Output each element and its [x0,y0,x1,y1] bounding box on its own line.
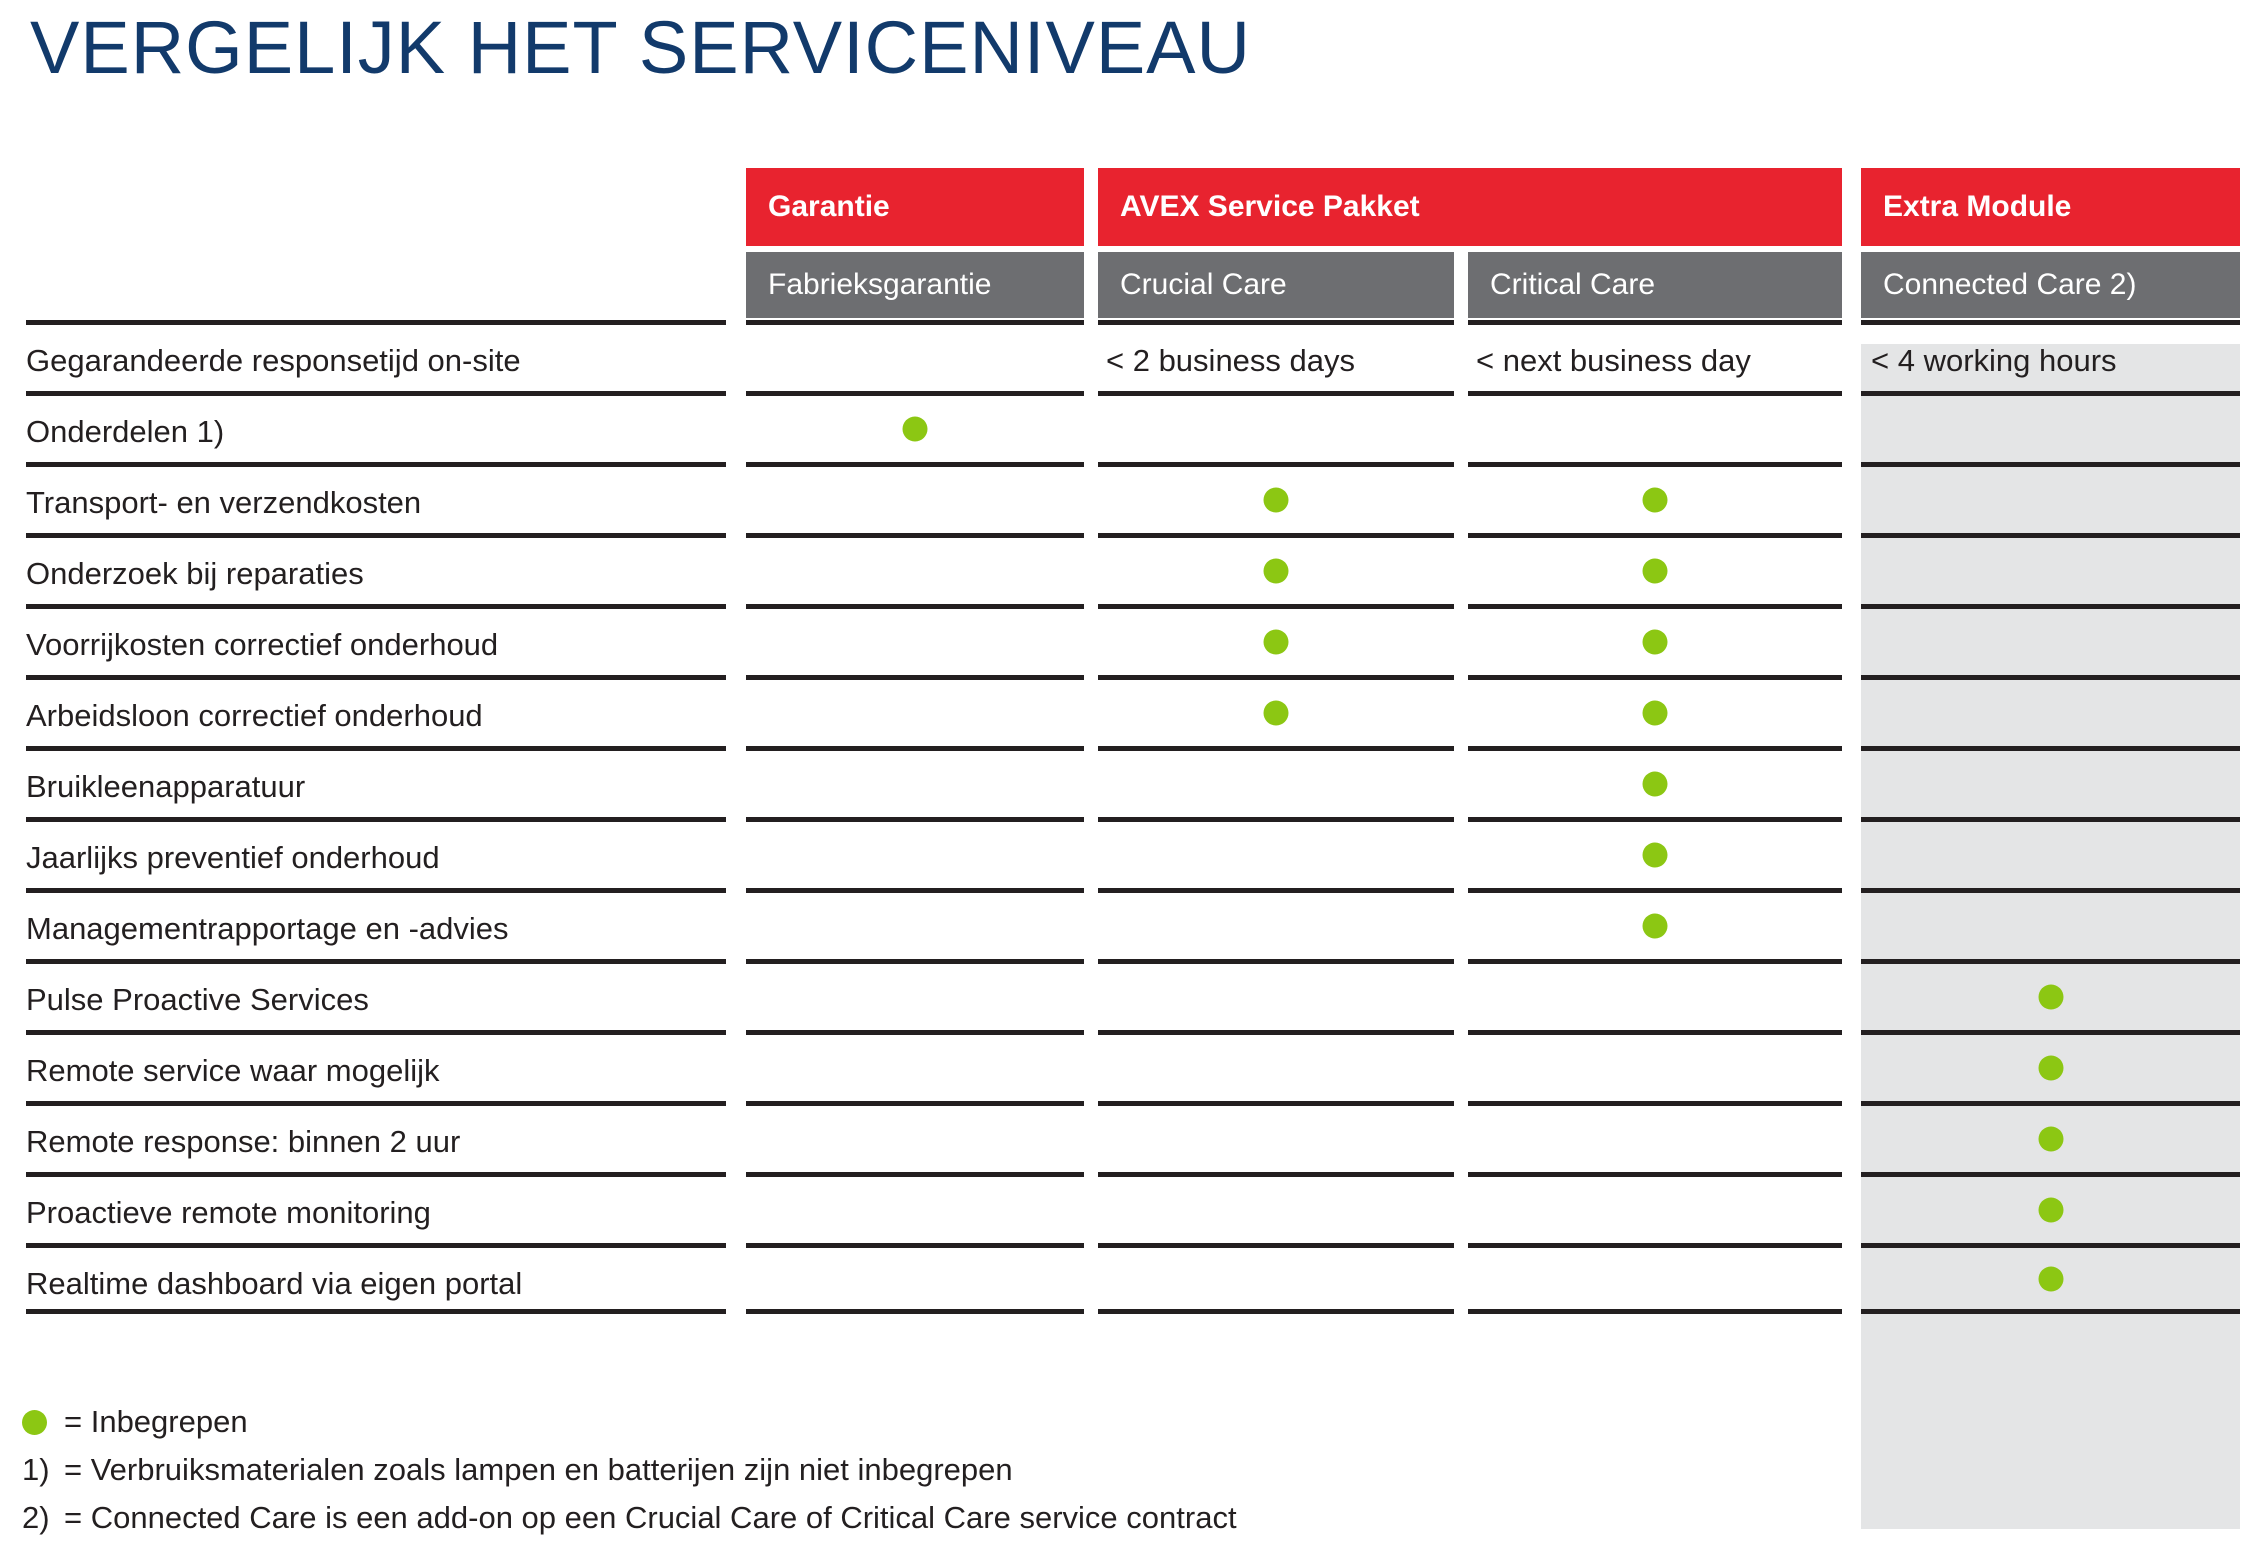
row-label-cell: Jaarlijks preventief onderhoud [26,817,726,888]
footnote-2-text: = Connected Care is een add-on op een Cr… [64,1494,1237,1542]
row-label: Arbeidsloon correctief onderhoud [26,680,483,751]
cell-connected [1861,746,2240,817]
row-label-cell: Onderzoek bij reparaties [26,533,726,604]
cell-crucial [1098,1101,1454,1172]
cell-connected [1861,604,2240,675]
table-body: Gegarandeerde responsetijd on-site< 2 bu… [0,320,2263,1314]
cell-value: < next business day [1468,325,1751,396]
cell-fabrieksgarantie [746,462,1084,533]
included-dot-icon [1264,630,1289,655]
table-row: Remote service waar mogelijk [0,1030,2263,1101]
row-label-cell: Voorrijkosten correctief onderhoud [26,604,726,675]
table-row: Onderdelen 1) [0,391,2263,462]
cell-connected [1861,959,2240,1030]
included-dot-icon [1264,701,1289,726]
cell-connected: < 4 working hours [1861,320,2240,391]
cell-critical [1468,746,1842,817]
group-header-avex-service-pakket: AVEX Service Pakket [1098,168,1842,246]
included-dot-icon [1643,914,1668,939]
table-row: Bruikleenapparatuur [0,746,2263,817]
cell-fabrieksgarantie [746,320,1084,391]
cell-critical [1468,959,1842,1030]
cell-fabrieksgarantie [746,1030,1084,1101]
table-row: Transport- en verzendkosten [0,462,2263,533]
group-header-extra-module: Extra Module [1861,168,2240,246]
cell-fabrieksgarantie [746,1172,1084,1243]
cell-critical [1468,1101,1842,1172]
table-row: Pulse Proactive Services [0,959,2263,1030]
cell-crucial [1098,1172,1454,1243]
included-dot-icon [2038,1266,2063,1291]
included-dot-icon [2038,985,2063,1010]
service-comparison-table: Garantie AVEX Service Pakket Extra Modul… [0,168,2263,1368]
cell-crucial [1098,888,1454,959]
row-label-cell: Pulse Proactive Services [26,959,726,1030]
table-row: Proactieve remote monitoring [0,1172,2263,1243]
cell-connected [1861,391,2240,462]
included-dot-icon [1643,772,1668,797]
cell-connected [1861,675,2240,746]
row-label: Voorrijkosten correctief onderhoud [26,609,498,680]
included-dot-icon [2038,1056,2063,1081]
cell-connected [1861,533,2240,604]
cell-fabrieksgarantie [746,959,1084,1030]
cell-connected [1861,888,2240,959]
cell-connected [1861,1030,2240,1101]
cell-critical [1468,604,1842,675]
included-dot-icon [1643,559,1668,584]
column-header-fabrieksgarantie: Fabrieksgarantie [746,252,1084,318]
cell-fabrieksgarantie [746,817,1084,888]
footnote-1-text: = Verbruiksmaterialen zoals lampen en ba… [64,1446,1013,1494]
table-row: Gegarandeerde responsetijd on-site< 2 bu… [0,320,2263,391]
cell-fabrieksgarantie [746,746,1084,817]
row-label: Remote service waar mogelijk [26,1035,439,1106]
cell-crucial [1098,1243,1454,1314]
row-label-cell: Arbeidsloon correctief onderhoud [26,675,726,746]
legend-included: = Inbegrepen [22,1398,2122,1446]
cell-connected [1861,1172,2240,1243]
row-label-cell: Gegarandeerde responsetijd on-site [26,320,726,391]
row-label: Remote response: binnen 2 uur [26,1106,460,1177]
row-label: Transport- en verzendkosten [26,467,421,538]
cell-value: < 4 working hours [1861,325,2117,396]
footnote-2-marker: 2) [22,1494,64,1542]
column-header-connected-care: Connected Care 2) [1861,252,2240,318]
cell-crucial [1098,1030,1454,1101]
row-label-cell: Remote service waar mogelijk [26,1030,726,1101]
page-title: VERGELIJK HET SERVICENIVEAU [30,6,1251,90]
table-row: Onderzoek bij reparaties [0,533,2263,604]
cell-connected [1861,1243,2240,1314]
row-label-cell: Proactieve remote monitoring [26,1172,726,1243]
cell-critical [1468,1243,1842,1314]
row-label: Onderzoek bij reparaties [26,538,364,609]
footnote-2: 2) = Connected Care is een add-on op een… [22,1494,2122,1542]
included-dot-icon [2038,1127,2063,1152]
cell-crucial [1098,746,1454,817]
row-label-cell: Bruikleenapparatuur [26,746,726,817]
cell-crucial [1098,817,1454,888]
row-label: Proactieve remote monitoring [26,1177,431,1248]
cell-crucial [1098,391,1454,462]
cell-crucial [1098,462,1454,533]
cell-critical [1468,533,1842,604]
cell-critical [1468,391,1842,462]
cell-crucial [1098,675,1454,746]
table-row: Voorrijkosten correctief onderhoud [0,604,2263,675]
cell-crucial [1098,604,1454,675]
row-label: Gegarandeerde responsetijd on-site [26,325,521,396]
row-label-cell: Onderdelen 1) [26,391,726,462]
row-label-cell: Transport- en verzendkosten [26,462,726,533]
included-dot-icon [1643,701,1668,726]
footnote-1: 1) = Verbruiksmaterialen zoals lampen en… [22,1446,2122,1494]
cell-critical [1468,888,1842,959]
cell-crucial [1098,959,1454,1030]
cell-critical [1468,675,1842,746]
cell-value: < 2 business days [1098,325,1355,396]
cell-critical [1468,1030,1842,1101]
group-header-garantie: Garantie [746,168,1084,246]
row-label-cell: Managementrapportage en -advies [26,888,726,959]
table-row: Realtime dashboard via eigen portal [0,1243,2263,1314]
footnotes: = Inbegrepen 1) = Verbruiksmaterialen zo… [22,1398,2122,1542]
table-row: Remote response: binnen 2 uur [0,1101,2263,1172]
cell-crucial [1098,533,1454,604]
row-label: Jaarlijks preventief onderhoud [26,822,440,893]
table-row: Jaarlijks preventief onderhoud [0,817,2263,888]
included-dot-icon [1264,559,1289,584]
cell-critical [1468,462,1842,533]
cell-critical: < next business day [1468,320,1842,391]
cell-fabrieksgarantie [746,604,1084,675]
cell-connected [1861,817,2240,888]
cell-critical [1468,817,1842,888]
included-dot-icon [1643,488,1668,513]
cell-fabrieksgarantie [746,533,1084,604]
cell-fabrieksgarantie [746,1101,1084,1172]
row-label: Pulse Proactive Services [26,964,369,1035]
table-row: Managementrapportage en -advies [0,888,2263,959]
footnote-1-marker: 1) [22,1446,64,1494]
cell-fabrieksgarantie [746,391,1084,462]
legend-included-label: = Inbegrepen [64,1398,248,1446]
included-dot-icon [903,417,928,442]
row-label: Onderdelen 1) [26,396,224,467]
cell-fabrieksgarantie [746,1243,1084,1314]
cell-connected [1861,462,2240,533]
cell-fabrieksgarantie [746,675,1084,746]
included-dot-icon [1643,843,1668,868]
column-header-crucial-care: Crucial Care [1098,252,1454,318]
column-header-critical-care: Critical Care [1468,252,1842,318]
included-dot-icon [2038,1198,2063,1223]
included-dot-icon [1264,488,1289,513]
row-label: Realtime dashboard via eigen portal [26,1248,522,1319]
cell-crucial: < 2 business days [1098,320,1454,391]
included-dot-icon [1643,630,1668,655]
row-label-cell: Realtime dashboard via eigen portal [26,1243,726,1314]
cell-critical [1468,1172,1842,1243]
row-label: Managementrapportage en -advies [26,893,509,964]
row-label: Bruikleenapparatuur [26,751,305,822]
included-dot-icon [22,1410,47,1435]
cell-connected [1861,1101,2240,1172]
row-label-cell: Remote response: binnen 2 uur [26,1101,726,1172]
cell-fabrieksgarantie [746,888,1084,959]
table-row: Arbeidsloon correctief onderhoud [0,675,2263,746]
